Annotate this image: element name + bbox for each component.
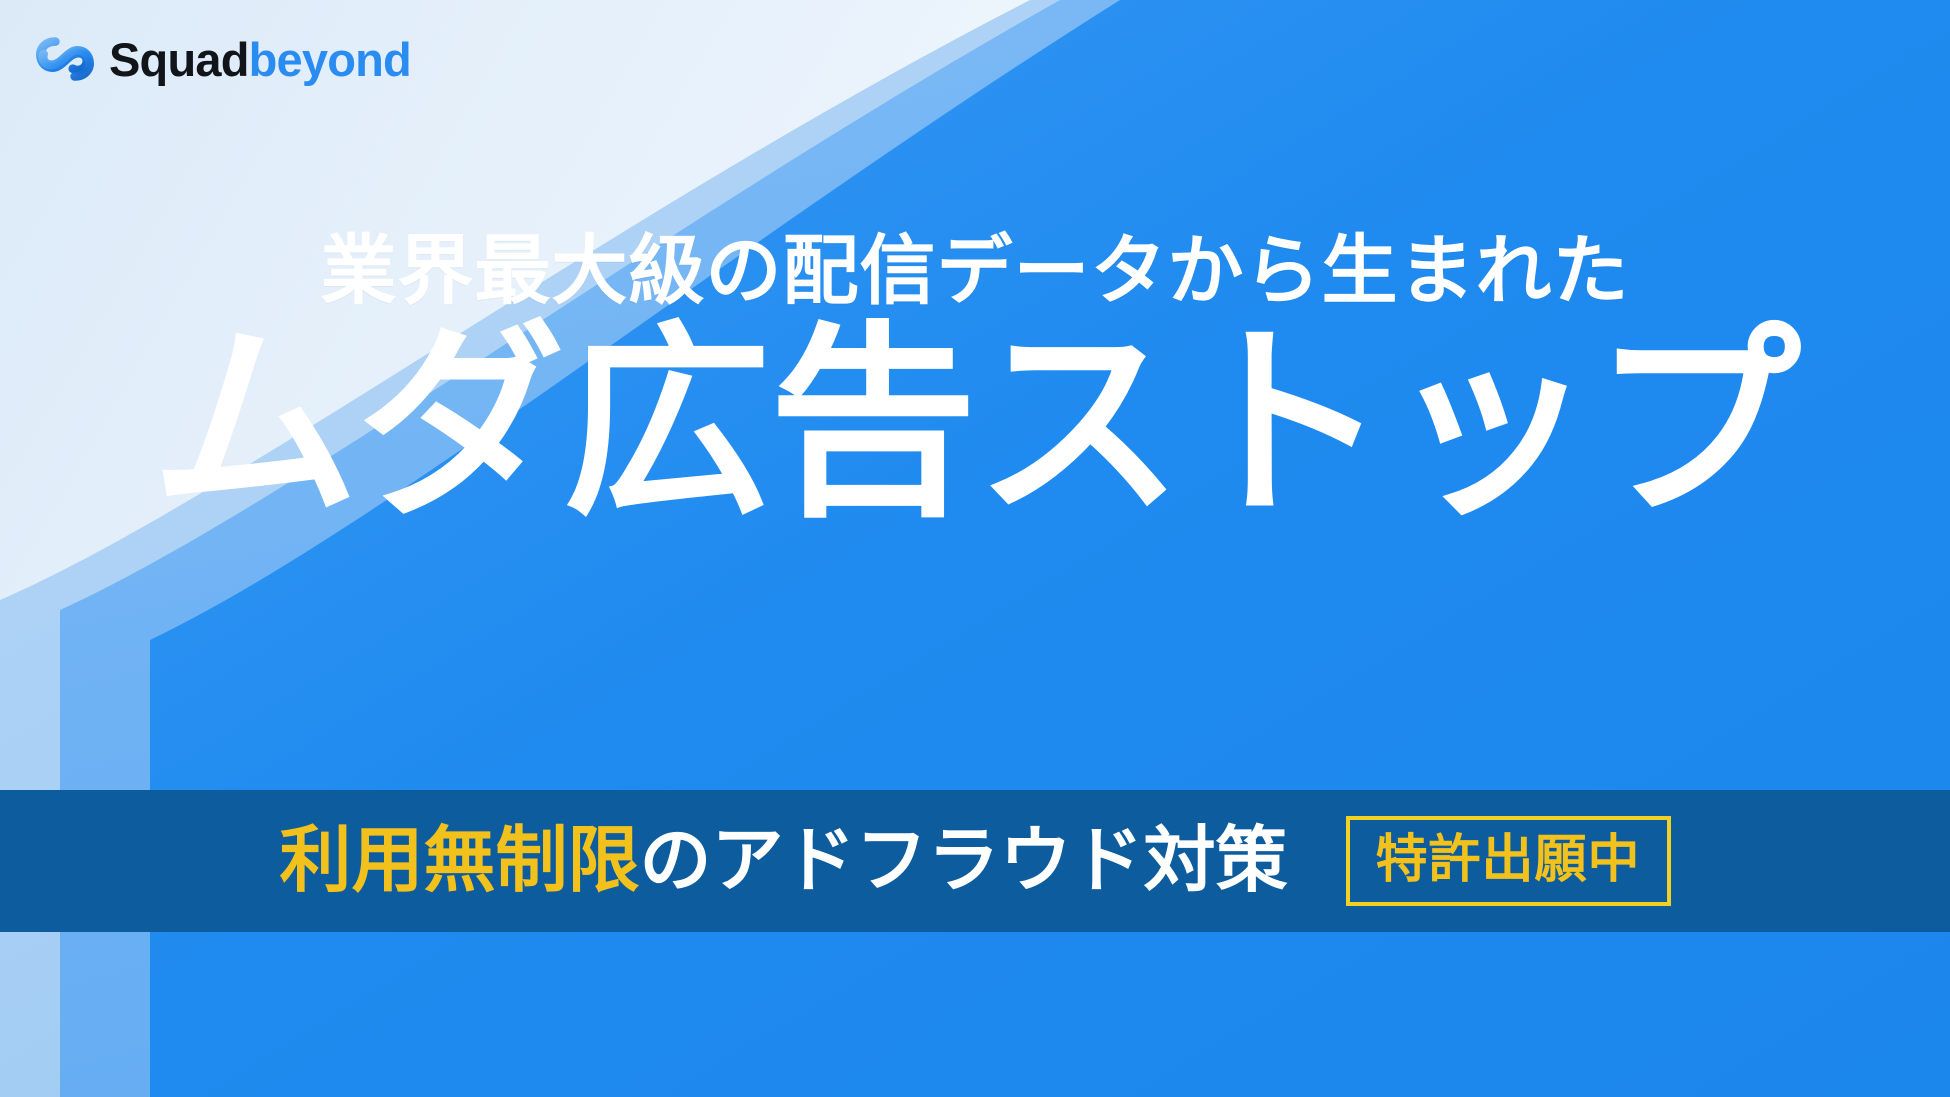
banner-rest-text: のアドフラウド対策 [639, 821, 1287, 901]
hero-headline-block: 業界最大級の配信データから生まれた ムダ広告ストップ [0, 232, 1950, 531]
background-decoration [0, 0, 1950, 1097]
main-blue-shape [150, 0, 1950, 1097]
feature-banner: 利用無制限のアドフラウド対策 特許出願中 [0, 790, 1950, 932]
background-shapes-svg [0, 0, 1950, 1097]
brand-name-squad: Squad [109, 33, 249, 86]
brand-logo[interactable]: Squadbeyond [34, 28, 411, 90]
brand-wordmark: Squadbeyond [109, 36, 411, 83]
hero-banner-image: Squadbeyond 業界最大級の配信データから生まれた ムダ広告ストップ 利… [0, 0, 1950, 1097]
patent-pending-badge: 特許出願中 [1346, 816, 1671, 906]
patent-pending-label: 特許出願中 [1376, 834, 1641, 886]
banner-text: 利用無制限のアドフラウド対策 [279, 825, 1287, 897]
squad-infinity-icon [34, 28, 96, 90]
banner-highlight-text: 利用無制限 [279, 821, 639, 901]
hero-subheadline: 業界最大級の配信データから生まれた [0, 232, 1950, 313]
brand-name-beyond: beyond [249, 33, 411, 86]
hero-headline: ムダ広告ストップ [0, 319, 1950, 531]
